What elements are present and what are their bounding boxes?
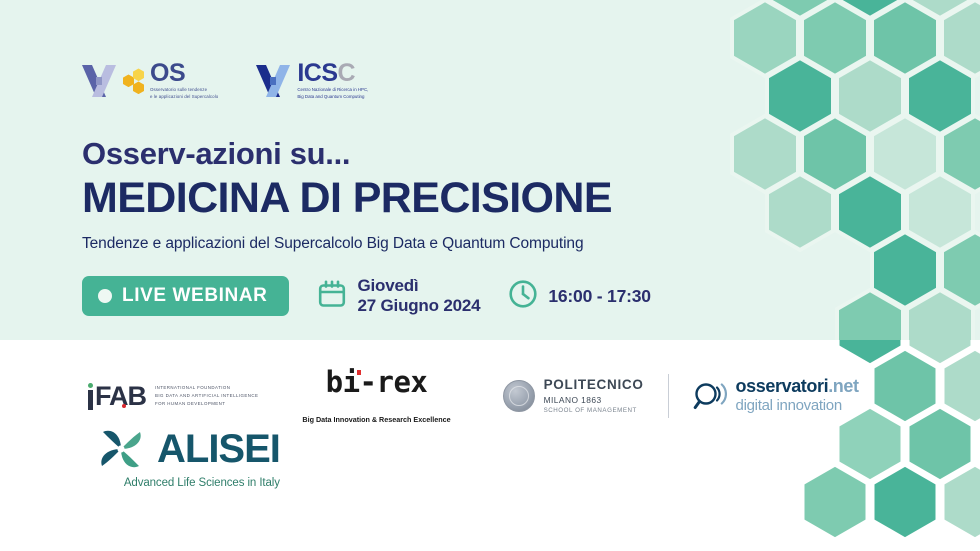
icsc-subtitle-line1: Centro Nazionale di Ricerca in HPC, <box>297 87 368 94</box>
icsc-letter-c2: C <box>338 59 356 87</box>
birex-red-dot-icon <box>357 370 362 375</box>
ifab-word: FAB <box>95 383 146 410</box>
alisei-word: ALISEI <box>157 429 280 469</box>
event-time-value: 16:00 - 17:30 <box>548 286 650 307</box>
hero-kicker: Osserv-azioni su... <box>82 136 612 172</box>
ifab-logo[interactable]: FAB INTERNATIONAL FOUNDATION BIG DATA AN… <box>88 383 258 410</box>
event-time: 16:00 - 17:30 <box>508 279 650 314</box>
live-dot-icon <box>98 289 112 303</box>
os-logo-word: OS <box>150 62 218 86</box>
os-hexagon-dots-icon <box>123 68 145 94</box>
politecnico-line3: SCHOOL OF MANAGEMENT <box>544 407 644 415</box>
event-date: Giovedì 27 Giugno 2024 <box>317 276 480 316</box>
calendar-icon <box>317 279 347 314</box>
os-logo[interactable]: OS Osservatorio sulle tendenze e le appl… <box>82 62 218 101</box>
header-logo-group: OS Osservatorio sulle tendenze e le appl… <box>82 62 368 101</box>
partner-logos-row-1: FAB INTERNATIONAL FOUNDATION BIG DATA AN… <box>88 368 859 424</box>
clock-icon <box>508 279 538 314</box>
hero-subtitle: Tendenze e applicazioni del Supercalcolo… <box>82 235 612 253</box>
alisei-tagline: Advanced Life Sciences in Italy <box>124 477 280 489</box>
icsc-logo-word: ICSC <box>297 62 368 86</box>
alisei-logo[interactable]: ALISEI Advanced Life Sciences in Italy <box>95 424 280 489</box>
magnifier-icon <box>693 381 727 411</box>
ifab-red-dot-icon <box>122 404 126 408</box>
osservatori-name: osservatori.net <box>736 377 859 397</box>
partner-logos-row-2: ALISEI Advanced Life Sciences in Italy <box>95 424 280 489</box>
politecnico-seal-icon <box>503 380 535 412</box>
politecnico-line2: MILANO 1863 <box>544 395 644 406</box>
ifab-wordmark: FAB <box>88 383 146 410</box>
ifab-letter-i-icon <box>88 383 93 410</box>
osservatori-net-logo[interactable]: osservatori.net digital innovation <box>693 377 859 414</box>
icsc-x-icon <box>256 63 290 99</box>
icsc-subtitle-line2: Big Data and Quantum Computing <box>297 94 368 101</box>
os-x-icon <box>82 63 116 99</box>
politecnico-line1: POLITECNICO <box>544 377 644 394</box>
logo-divider <box>668 374 669 418</box>
event-day-of-week: Giovedì <box>357 276 480 296</box>
ifab-text-line3: FOR HUMAN DEVELOPMENT <box>155 400 258 408</box>
page-title: MEDICINA DI PRECISIONE <box>82 174 612 223</box>
birex-word: bi-rex <box>326 368 428 397</box>
icsc-letter-s: S <box>321 59 337 87</box>
ifab-text-line2: BIG DATA AND ARTIFICIAL INTELLIGENCE <box>155 392 258 400</box>
os-logo-subtitle-line1: Osservatorio sulle tendenze <box>150 87 218 94</box>
webinar-poster: OS Osservatorio sulle tendenze e le appl… <box>0 0 980 551</box>
birex-logo[interactable]: bi-rex Big Data Innovation & Research Ex… <box>302 368 450 424</box>
icsc-logo[interactable]: ICSC Centro Nazionale di Ricerca in HPC,… <box>256 62 368 101</box>
live-webinar-badge[interactable]: LIVE WEBINAR <box>82 276 289 316</box>
icsc-letter-c1: C <box>304 59 322 87</box>
politecnico-milano-logo[interactable]: POLITECNICO MILANO 1863 SCHOOL OF MANAGE… <box>503 377 644 414</box>
os-logo-subtitle-line2: e le applicazioni del Supercalcolo <box>150 94 218 101</box>
event-date-value: 27 Giugno 2024 <box>357 296 480 316</box>
osservatori-tld: .net <box>828 376 858 396</box>
osservatori-tagline: digital innovation <box>736 398 859 415</box>
ifab-text-line1: INTERNATIONAL FOUNDATION <box>155 384 258 392</box>
hero-headline-block: Osserv-azioni su... MEDICINA DI PRECISIO… <box>82 136 612 253</box>
birex-tagline: Big Data Innovation & Research Excellenc… <box>302 415 450 424</box>
event-info-row: LIVE WEBINAR Giovedì 27 Giugno 2024 <box>82 276 651 316</box>
osservatori-word: osservatori <box>736 376 829 396</box>
alisei-pinwheel-icon <box>95 424 149 474</box>
live-webinar-label: LIVE WEBINAR <box>122 285 267 307</box>
ifab-description: INTERNATIONAL FOUNDATION BIG DATA AND AR… <box>155 384 258 407</box>
